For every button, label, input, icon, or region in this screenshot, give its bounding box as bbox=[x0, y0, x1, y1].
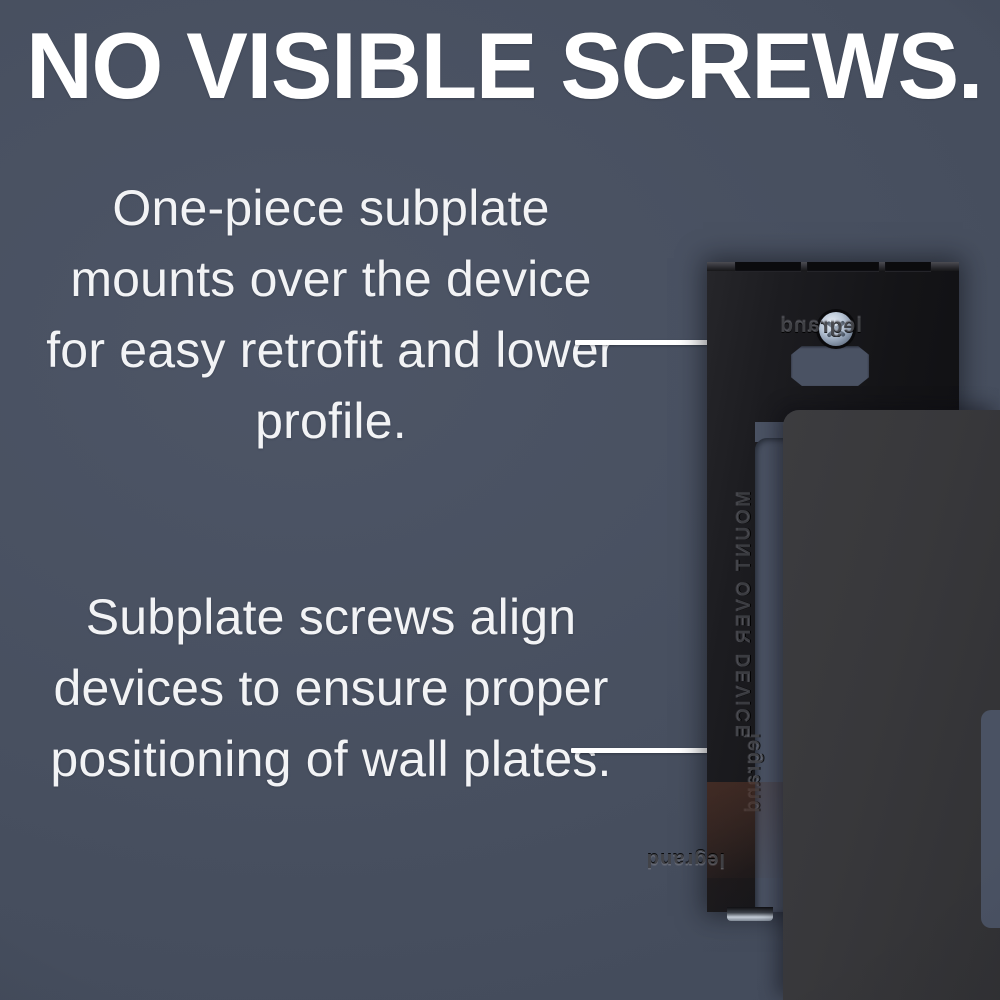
embossed-brand-bottom: legrand bbox=[646, 848, 725, 871]
wall-plate-opening bbox=[981, 710, 1000, 928]
embossed-mount-over-device-text: MOUNT OVER DEVICE bbox=[734, 491, 756, 691]
page-title: NO VISIBLE SCREWS. bbox=[26, 18, 972, 114]
subplate-top-notch bbox=[807, 262, 879, 272]
subplate-top-notch bbox=[735, 262, 801, 272]
device-cutout bbox=[791, 346, 869, 386]
subplate-top-notch bbox=[885, 262, 931, 272]
wall-plate bbox=[783, 410, 1000, 1000]
embossed-brand-top: legrand bbox=[779, 314, 862, 338]
product-photo: legrand legrand MOUNT OVER DEVICE legran… bbox=[700, 255, 1000, 1000]
subplate-bottom-tab bbox=[727, 907, 773, 921]
feature-description-one-piece-subplate: One-piece subplate mounts over the devic… bbox=[46, 173, 616, 457]
feature-description-subplate-screws: Subplate screws align devices to ensure … bbox=[46, 582, 616, 795]
marketing-infographic: NO VISIBLE SCREWS. One-piece subplate mo… bbox=[0, 0, 1000, 1000]
